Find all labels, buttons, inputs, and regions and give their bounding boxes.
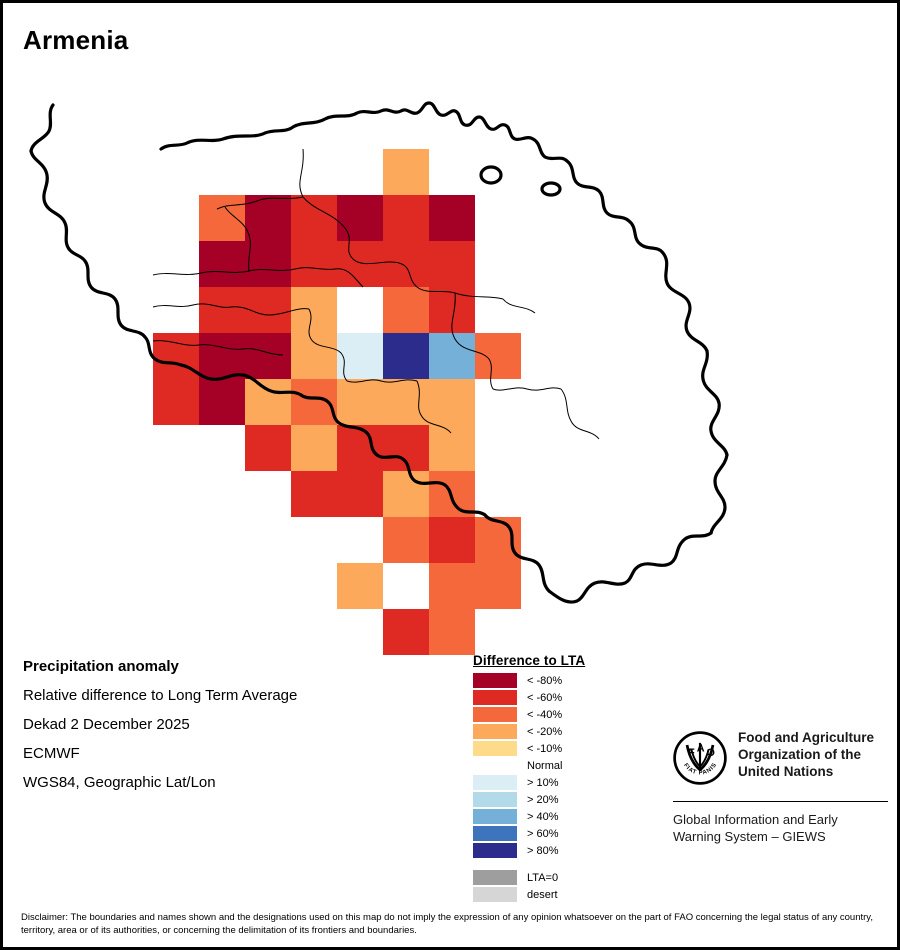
giews-program-name: Global Information and Early Warning Sys… [673, 811, 888, 845]
fao-organization-name: Food and Agriculture Organization of the… [738, 729, 874, 780]
map-canvas[interactable] [3, 63, 897, 623]
legend-extra-items: LTA=0desert [473, 869, 653, 903]
legend-swatch [473, 826, 517, 841]
legend-label: > 10% [527, 777, 559, 789]
legend-extra-item-0: LTA=0 [473, 869, 653, 886]
legend-swatch [473, 870, 517, 885]
svg-text:O: O [706, 747, 714, 759]
legend-label: Normal [527, 760, 562, 772]
legend-spacer [473, 859, 653, 869]
fao-branding-block: F A O FIAT PANIS Food and Agriculture Or… [673, 729, 888, 845]
national-boundary [31, 103, 727, 602]
info-subtitle: Relative difference to Long Term Average [23, 687, 297, 704]
legend-label: desert [527, 889, 558, 901]
legend-label: < -80% [527, 675, 562, 687]
legend-label: LTA=0 [527, 872, 558, 884]
info-projection: WGS84, Geographic Lat/Lon [23, 774, 297, 791]
giews-line-2: Warning System – GIEWS [673, 828, 888, 845]
svg-text:F: F [688, 747, 695, 759]
legend-label: < -10% [527, 743, 562, 755]
legend-swatch [473, 809, 517, 824]
legend-swatch [473, 690, 517, 705]
legend-item-4: < -10% [473, 740, 653, 757]
legend-extra-item-1: desert [473, 886, 653, 903]
legend-title: Difference to LTA [473, 653, 653, 668]
legend-swatch [473, 724, 517, 739]
legend-label: < -60% [527, 692, 562, 704]
legend-item-8: > 40% [473, 808, 653, 825]
legend-label: > 80% [527, 845, 559, 857]
legend-swatch [473, 775, 517, 790]
fao-org-line-1: Food and Agriculture [738, 729, 874, 746]
map-info-block: Precipitation anomaly Relative differenc… [23, 658, 297, 803]
legend-label: < -40% [527, 709, 562, 721]
fao-org-line-2: Organization of the [738, 746, 874, 763]
legend-item-2: < -40% [473, 706, 653, 723]
legend-item-10: > 80% [473, 842, 653, 859]
legend-item-3: < -20% [473, 723, 653, 740]
legend-item-7: > 20% [473, 791, 653, 808]
disclaimer-text: Disclaimer: The boundaries and names sho… [21, 911, 883, 937]
fao-logo-icon: F A O FIAT PANIS [673, 731, 727, 790]
legend-swatch [473, 741, 517, 756]
page-title: Armenia [23, 25, 128, 56]
info-heading: Precipitation anomaly [23, 658, 297, 675]
province-boundaries [153, 149, 599, 439]
legend-label: > 60% [527, 828, 559, 840]
administrative-boundaries-overlay [3, 63, 897, 623]
legend-swatch [473, 887, 517, 902]
legend-item-9: > 60% [473, 825, 653, 842]
giews-line-1: Global Information and Early [673, 811, 888, 828]
legend-swatch [473, 707, 517, 722]
svg-text:A: A [697, 743, 705, 755]
legend-label: > 20% [527, 794, 559, 806]
legend-swatch [473, 843, 517, 858]
legend-label: < -20% [527, 726, 562, 738]
fao-org-line-3: United Nations [738, 763, 874, 780]
legend-item-6: > 10% [473, 774, 653, 791]
legend-swatch [473, 758, 517, 773]
legend-items: < -80%< -60%< -40%< -20%< -10%Normal> 10… [473, 672, 653, 859]
legend-item-0: < -80% [473, 672, 653, 689]
legend: Difference to LTA < -80%< -60%< -40%< -2… [473, 653, 653, 903]
legend-item-1: < -60% [473, 689, 653, 706]
info-period: Dekad 2 December 2025 [23, 716, 297, 733]
legend-swatch [473, 792, 517, 807]
map-page: Armenia [0, 0, 900, 950]
legend-item-5: Normal [473, 757, 653, 774]
fao-divider [673, 801, 888, 802]
legend-label: > 40% [527, 811, 559, 823]
info-source: ECMWF [23, 745, 297, 762]
legend-swatch [473, 673, 517, 688]
